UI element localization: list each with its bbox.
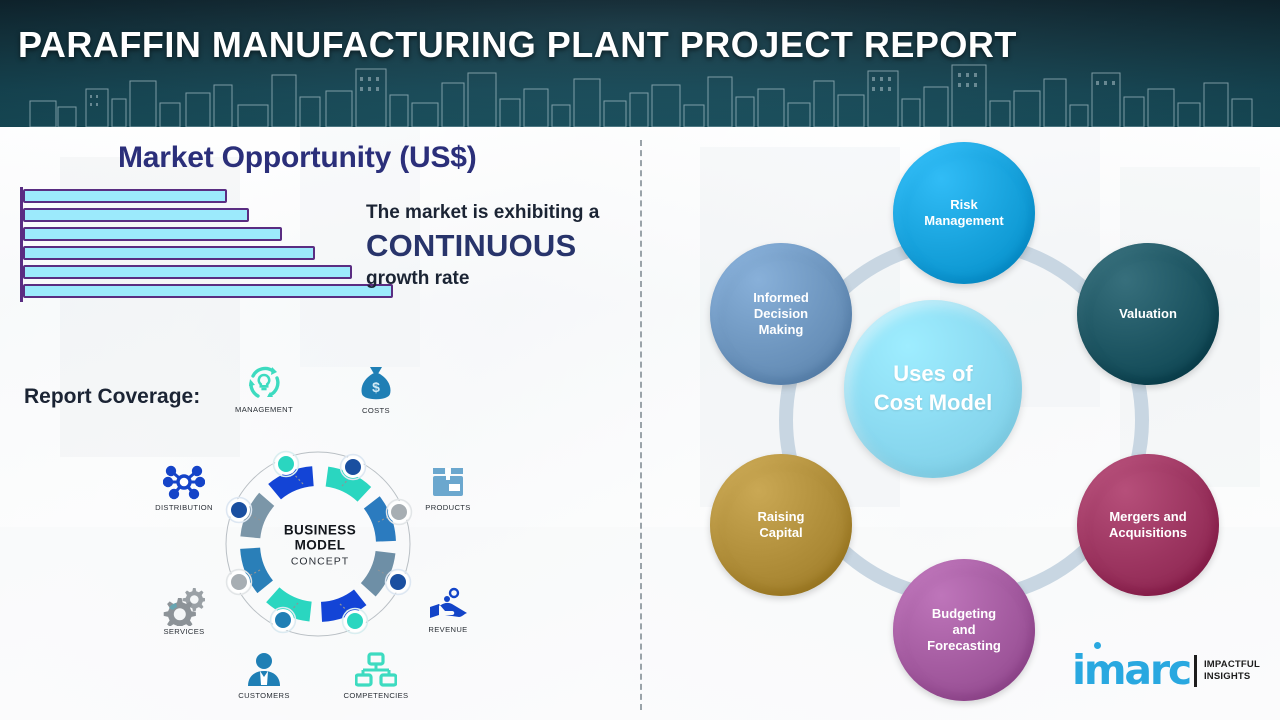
- left-panel: Market Opportunity (US$) The market is e…: [0, 127, 640, 720]
- svg-text:$: $: [372, 379, 380, 395]
- node-label: Raising Capital: [758, 509, 805, 541]
- slide-header: PARAFFIN MANUFACTURING PLANT PROJECT REP…: [0, 0, 1280, 127]
- business-model-diagram: BUSINESS MODEL CONCEPT: [140, 372, 500, 717]
- coverage-label: REVENUE: [402, 625, 494, 634]
- coverage-label: COSTS: [330, 406, 422, 415]
- right-panel: Uses of Cost Model Risk Management Valua…: [640, 127, 1280, 720]
- coverage-item-costs: $ COSTS: [330, 363, 422, 415]
- node-label: Risk Management: [924, 197, 1003, 229]
- logo-tagline: IMPACTFUL INSIGHTS: [1204, 659, 1260, 682]
- market-opportunity-title: Market Opportunity (US$): [118, 141, 477, 175]
- logo-dot-icon: [1094, 642, 1101, 649]
- center-label: Uses of Cost Model: [874, 360, 993, 417]
- logo-tagline-1: IMPACTFUL: [1204, 659, 1260, 671]
- logo-wordmark: imarc: [1072, 652, 1190, 690]
- coverage-label: DISTRIBUTION: [138, 503, 230, 512]
- page-title: PARAFFIN MANUFACTURING PLANT PROJECT REP…: [18, 24, 1017, 66]
- coverage-label: COMPETENCIES: [330, 691, 422, 700]
- node-label: Mergers and Acquisitions: [1109, 509, 1187, 541]
- money-bag-icon: $: [357, 363, 395, 405]
- coverage-item-competencies: COMPETENCIES: [330, 652, 422, 700]
- hand-coins-icon: [426, 586, 470, 624]
- business-model-wheel-icon: [140, 372, 500, 717]
- coverage-item-revenue: REVENUE: [402, 586, 494, 634]
- growth-statement: The market is exhibiting a CONTINUOUS gr…: [366, 201, 636, 290]
- coverage-item-customers: CUSTOMERS: [218, 652, 310, 700]
- table-row: [23, 265, 352, 279]
- coverage-item-services: SERVICES: [138, 586, 230, 636]
- table-row: [23, 246, 315, 260]
- box-icon: [428, 462, 468, 502]
- coverage-label: SERVICES: [138, 627, 230, 636]
- node-risk-management[interactable]: Risk Management: [893, 142, 1035, 284]
- node-mergers-and-acquisitions[interactable]: Mergers and Acquisitions: [1077, 454, 1219, 596]
- table-row: [23, 227, 282, 241]
- org-chart-icon: [355, 652, 397, 690]
- node-raising-capital[interactable]: Raising Capital: [710, 454, 852, 596]
- uses-of-cost-model-center: Uses of Cost Model: [844, 300, 1022, 478]
- coverage-item-distribution: DISTRIBUTION: [138, 462, 230, 512]
- node-label: Valuation: [1119, 306, 1177, 322]
- recycle-bulb-icon: [243, 362, 285, 404]
- logo-divider: [1194, 655, 1197, 687]
- growth-line-1: The market is exhibiting a: [366, 201, 636, 225]
- market-opportunity-bar-chart: [20, 187, 400, 302]
- imarc-logo[interactable]: imarc IMPACTFUL INSIGHTS: [1072, 652, 1260, 690]
- table-row: [23, 208, 249, 222]
- node-valuation[interactable]: Valuation: [1077, 243, 1219, 385]
- logo-tagline-2: INSIGHTS: [1204, 671, 1260, 683]
- table-row: [23, 189, 227, 203]
- gears-icon: [163, 586, 205, 626]
- coverage-item-products: PRODUCTS: [402, 462, 494, 512]
- slide-root: PARAFFIN MANUFACTURING PLANT PROJECT REP…: [0, 0, 1280, 720]
- coverage-label: CUSTOMERS: [218, 691, 310, 700]
- growth-line-3: growth rate: [366, 267, 636, 291]
- node-label: Informed Decision Making: [753, 290, 809, 338]
- coverage-label: PRODUCTS: [402, 503, 494, 512]
- node-label: Budgeting and Forecasting: [927, 606, 1001, 654]
- network-nodes-icon: [163, 462, 205, 502]
- coverage-item-management: MANAGEMENT: [218, 362, 310, 414]
- coverage-label: MANAGEMENT: [218, 405, 310, 414]
- node-informed-decision-making[interactable]: Informed Decision Making: [710, 243, 852, 385]
- growth-emphasis: CONTINUOUS: [366, 225, 636, 267]
- table-row: [23, 284, 393, 298]
- node-budgeting-and-forecasting[interactable]: Budgeting and Forecasting: [893, 559, 1035, 701]
- person-icon: [244, 652, 284, 690]
